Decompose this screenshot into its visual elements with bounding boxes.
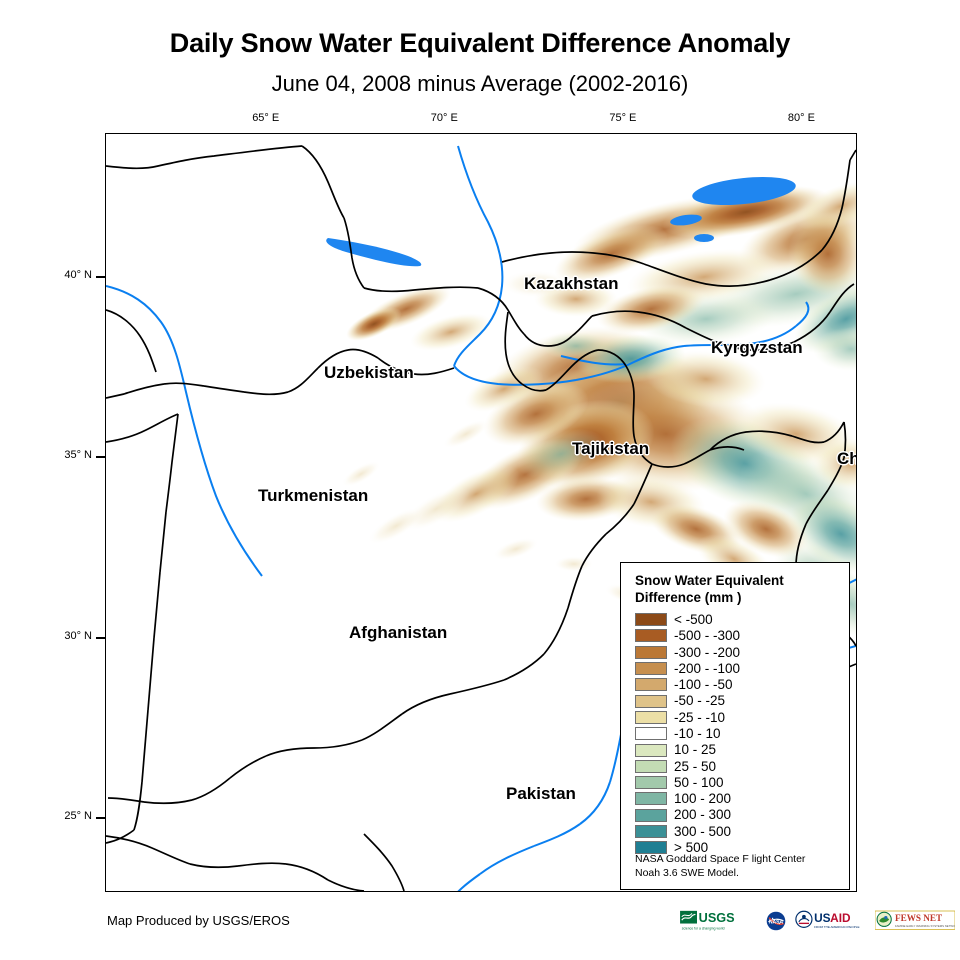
legend-label: 25 - 50	[674, 760, 716, 774]
legend-label: 300 - 500	[674, 825, 731, 839]
lat-tick-label: 35° N	[40, 449, 92, 461]
svg-text:FEWS NET: FEWS NET	[895, 913, 942, 923]
legend-label: -25 - -10	[674, 711, 725, 725]
map-frame[interactable]: KazakhstanUzbekistanKyrgyzstanTajikistan…	[105, 133, 857, 892]
lat-tick	[96, 276, 105, 278]
lat-tick-label: 25° N	[40, 810, 92, 822]
legend-swatch	[635, 792, 667, 805]
legend-row: 10 - 25	[635, 742, 849, 758]
legend-label: -50 - -25	[674, 694, 725, 708]
legend-title: Snow Water Equivalent Difference (mm )	[635, 572, 831, 607]
legend-label: 100 - 200	[674, 792, 731, 806]
legend-swatch	[635, 744, 667, 757]
legend-swatch	[635, 760, 667, 773]
footer-logos: USGS science for a changing world NASA U…	[680, 908, 955, 934]
legend-row: -200 - -100	[635, 660, 849, 676]
legend-row: -50 - -25	[635, 693, 849, 709]
lon-tick-label: 65° E	[236, 112, 296, 124]
legend-swatch	[635, 711, 667, 724]
legend-label: 200 - 300	[674, 808, 731, 822]
legend-class-list: < -500-500 - -300-300 - -200-200 - -100-…	[635, 612, 849, 856]
legend-label: 10 - 25	[674, 743, 716, 757]
legend-swatch	[635, 678, 667, 691]
legend-swatch	[635, 776, 667, 789]
legend-source-line2: Noah 3.6 SWE Model.	[635, 866, 841, 880]
legend-label: 50 - 100	[674, 776, 724, 790]
usgs-logo: USGS science for a changing world	[680, 910, 758, 932]
legend-row: 25 - 50	[635, 758, 849, 774]
legend-source-line1: NASA Goddard Space F light Center	[635, 852, 841, 866]
lat-tick-label: 40° N	[40, 269, 92, 281]
lon-tick-label: 80° E	[771, 112, 831, 124]
legend-title-line2: Difference (mm )	[635, 589, 831, 606]
legend-swatch	[635, 662, 667, 675]
legend-row: 300 - 500	[635, 823, 849, 839]
page-subtitle: June 04, 2008 minus Average (2002-2016)	[0, 71, 960, 97]
usaid-logo: US AID FROM THE AMERICAN PEOPLE	[794, 910, 868, 932]
footer-credit: Map Produced by USGS/EROS	[107, 913, 290, 928]
lat-tick	[96, 817, 105, 819]
legend-title-line1: Snow Water Equivalent	[635, 572, 831, 589]
legend-label: -500 - -300	[674, 629, 740, 643]
legend-row: 50 - 100	[635, 775, 849, 791]
legend-row: 100 - 200	[635, 791, 849, 807]
map-legend: Snow Water Equivalent Difference (mm ) <…	[620, 562, 850, 890]
lat-tick	[96, 456, 105, 458]
legend-row: -25 - -10	[635, 709, 849, 725]
legend-label: -100 - -50	[674, 678, 733, 692]
map-page: Daily Snow Water Equivalent Difference A…	[0, 0, 960, 960]
svg-text:US: US	[814, 911, 831, 925]
legend-swatch	[635, 646, 667, 659]
legend-label: -200 - -100	[674, 662, 740, 676]
svg-text:FAMINE EARLY WARNING SYSTEMS N: FAMINE EARLY WARNING SYSTEMS NETWORK	[895, 924, 955, 928]
legend-swatch	[635, 825, 667, 838]
legend-swatch	[635, 629, 667, 642]
legend-swatch	[635, 613, 667, 626]
legend-label: < -500	[674, 613, 713, 627]
legend-swatch	[635, 695, 667, 708]
legend-row: -100 - -50	[635, 677, 849, 693]
lat-tick	[96, 637, 105, 639]
legend-row: -10 - 10	[635, 726, 849, 742]
page-title: Daily Snow Water Equivalent Difference A…	[0, 28, 960, 59]
lon-tick-label: 70° E	[414, 112, 474, 124]
fewsnet-logo: FEWS NET FAMINE EARLY WARNING SYSTEMS NE…	[875, 910, 955, 932]
svg-text:FROM THE AMERICAN PEOPLE: FROM THE AMERICAN PEOPLE	[814, 925, 859, 929]
lat-tick-label: 30° N	[40, 630, 92, 642]
svg-text:USGS: USGS	[699, 911, 735, 925]
legend-swatch	[635, 727, 667, 740]
legend-label: -10 - 10	[674, 727, 721, 741]
svg-text:science for a changing world: science for a changing world	[682, 926, 725, 930]
lon-tick-label: 75° E	[593, 112, 653, 124]
svg-text:NASA: NASA	[769, 920, 784, 926]
legend-row: 200 - 300	[635, 807, 849, 823]
legend-swatch	[635, 809, 667, 822]
svg-text:AID: AID	[830, 911, 851, 925]
nasa-logo: NASA	[765, 910, 787, 932]
legend-row: < -500	[635, 612, 849, 628]
legend-row: -500 - -300	[635, 628, 849, 644]
legend-row: -300 - -200	[635, 644, 849, 660]
legend-label: -300 - -200	[674, 646, 740, 660]
legend-source: NASA Goddard Space F light Center Noah 3…	[635, 852, 841, 880]
